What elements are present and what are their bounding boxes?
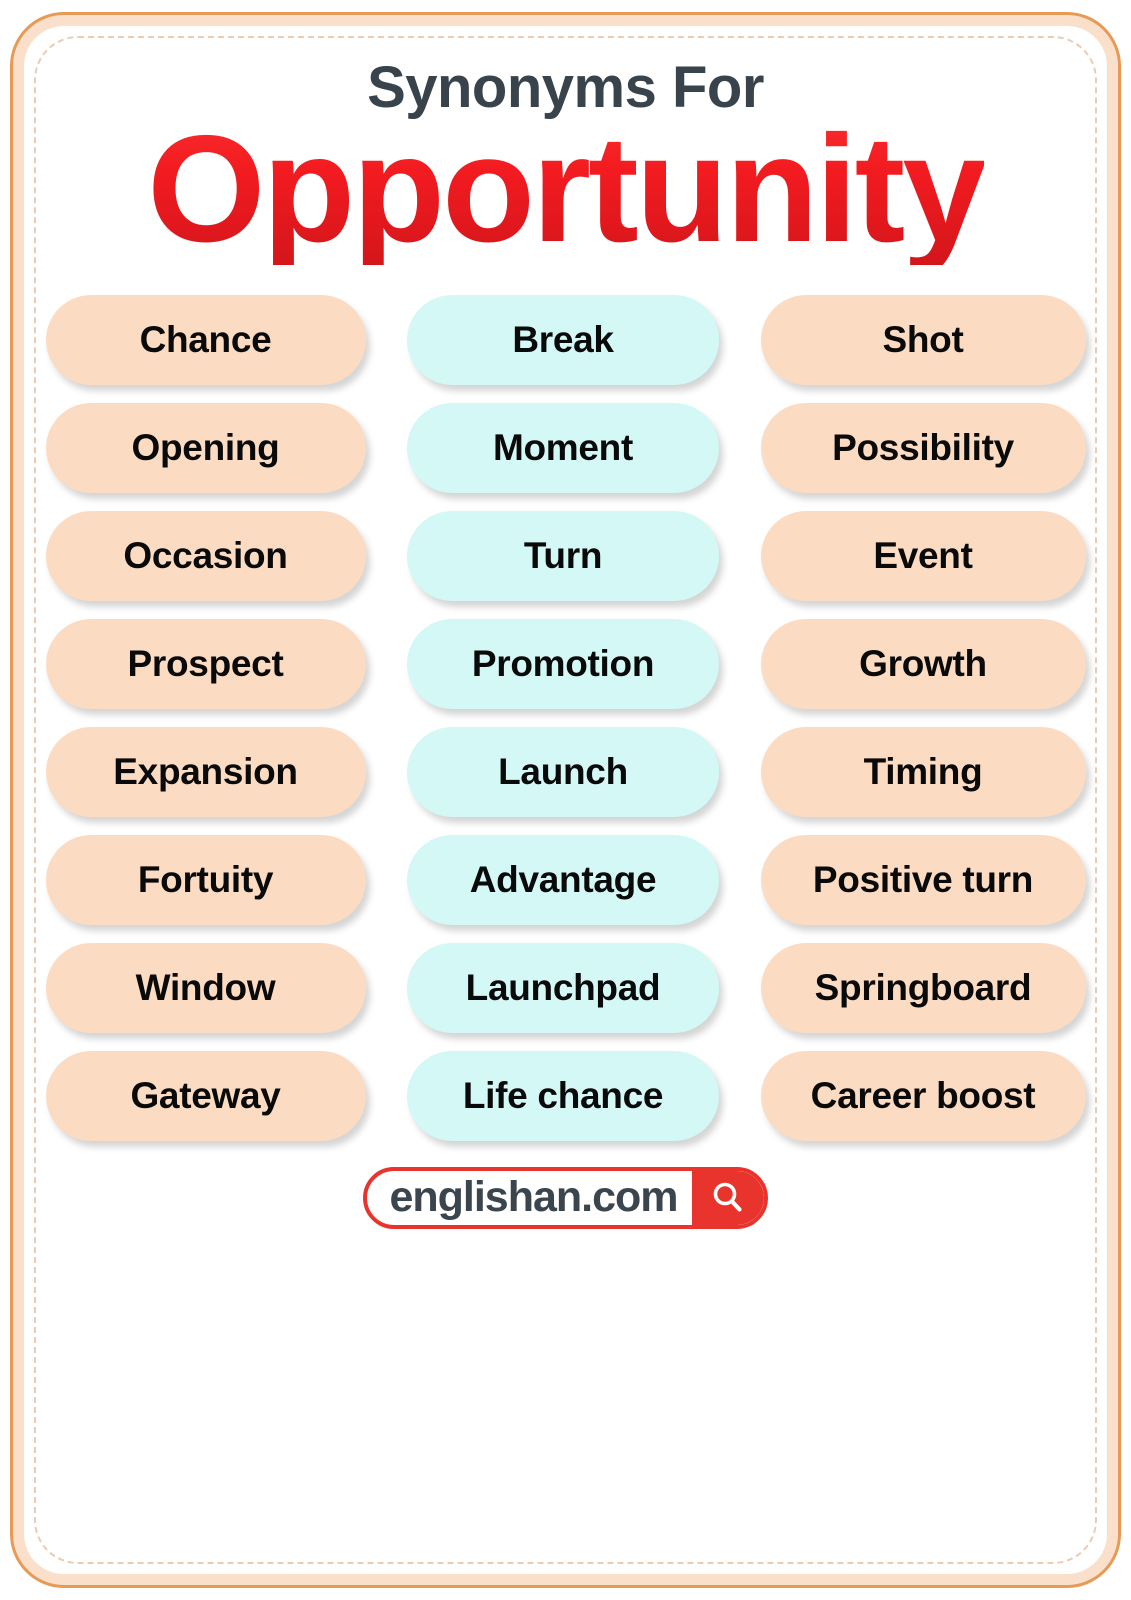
synonym-pill: Break [407,295,719,385]
synonym-pill: Fortuity [46,835,366,925]
footer: englishan.com [40,1167,1091,1229]
page-title: Opportunity [147,113,984,265]
synonym-pill: Positive turn [761,835,1086,925]
site-logo-label: englishan.com [367,1171,691,1225]
synonym-pill: Advantage [407,835,719,925]
synonym-pill: Opening [46,403,366,493]
synonym-grid: ChanceBreakShotOpeningMomentPossibilityO… [46,295,1086,1141]
synonym-pill: Launch [407,727,719,817]
synonym-row: WindowLaunchpadSpringboard [46,943,1086,1033]
synonym-row: FortuityAdvantagePositive turn [46,835,1086,925]
synonym-row: OpeningMomentPossibility [46,403,1086,493]
synonym-row: OccasionTurnEvent [46,511,1086,601]
synonym-pill: Expansion [46,727,366,817]
synonym-pill: Possibility [761,403,1086,493]
synonym-pill: Gateway [46,1051,366,1141]
synonym-row: ChanceBreakShot [46,295,1086,385]
synonym-pill: Event [761,511,1086,601]
synonym-pill: Chance [46,295,366,385]
synonym-pill: Prospect [46,619,366,709]
synonym-pill: Window [46,943,366,1033]
synonym-pill: Springboard [761,943,1086,1033]
site-logo[interactable]: englishan.com [363,1167,767,1229]
search-icon[interactable] [692,1171,764,1225]
synonym-pill: Shot [761,295,1086,385]
synonym-pill: Promotion [407,619,719,709]
infographic-poster: Synonyms For Opportunity ChanceBreakShot… [0,0,1131,1600]
synonym-pill: Life chance [407,1051,719,1141]
synonym-row: ExpansionLaunchTiming [46,727,1086,817]
synonym-pill: Growth [761,619,1086,709]
synonym-pill: Timing [761,727,1086,817]
synonym-pill: Launchpad [407,943,719,1033]
synonym-pill: Occasion [46,511,366,601]
synonym-row: ProspectPromotionGrowth [46,619,1086,709]
synonym-row: GatewayLife chanceCareer boost [46,1051,1086,1141]
poster-content: Synonyms For Opportunity ChanceBreakShot… [0,0,1131,1600]
synonym-pill: Moment [407,403,719,493]
synonym-pill: Turn [407,511,719,601]
synonym-pill: Career boost [761,1051,1086,1141]
